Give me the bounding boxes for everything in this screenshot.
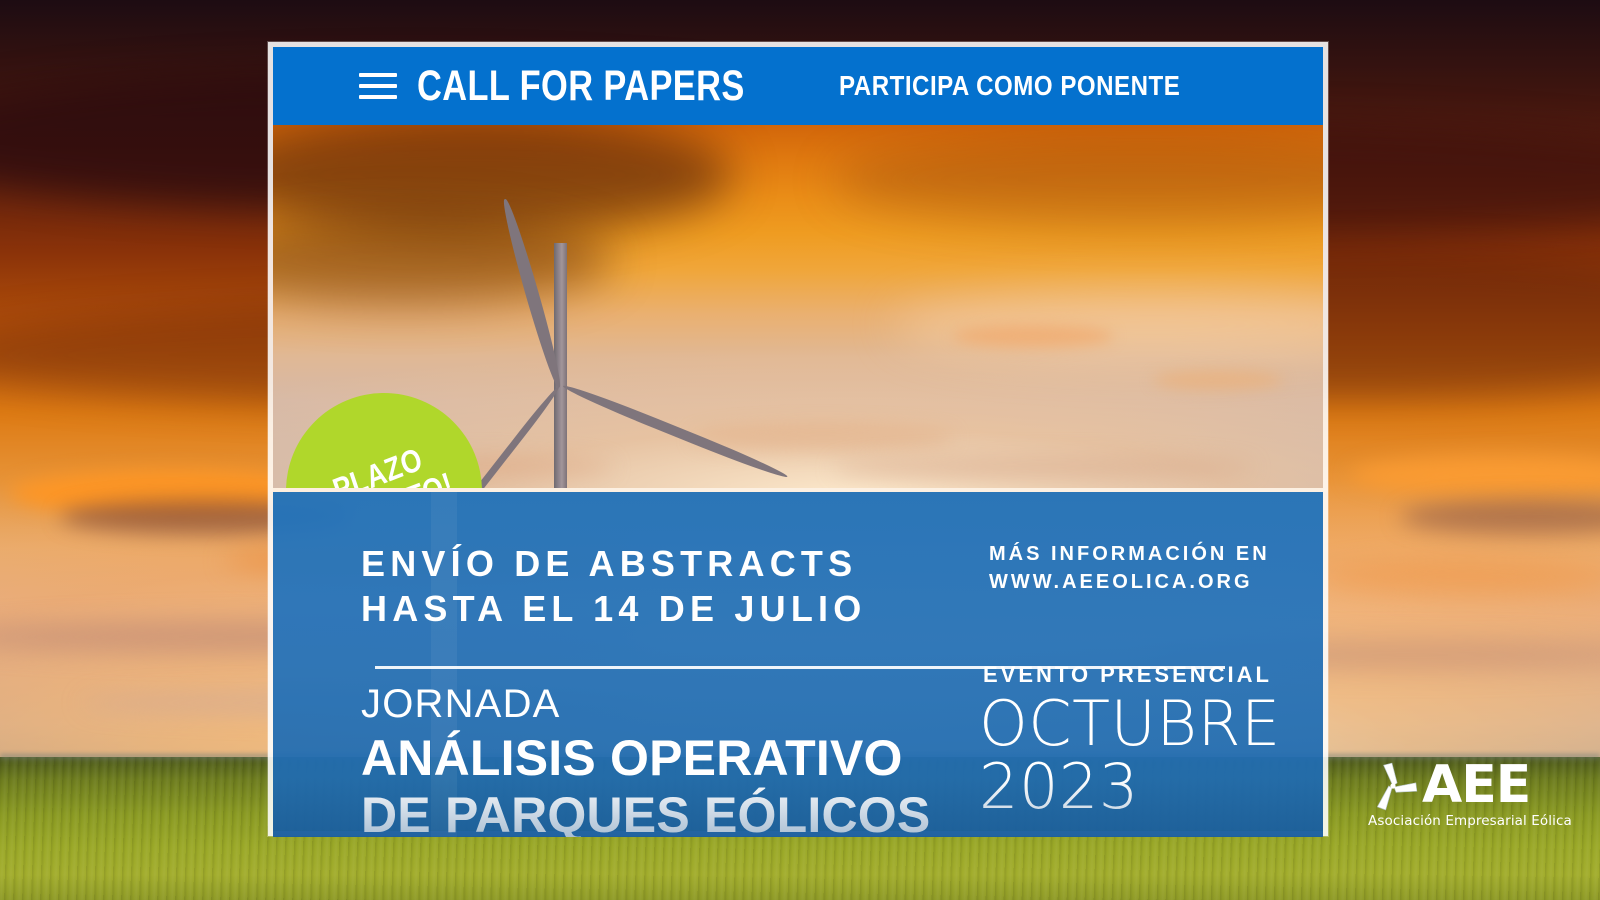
- more-information: MÁS INFORMACIÓN EN WWW.AEEOLICA.ORG: [989, 540, 1270, 597]
- aee-acronym: AEE: [1422, 761, 1530, 810]
- aee-logo: AEE Asociación Empresarial Eólica: [1368, 760, 1538, 836]
- abstract-deadline-line-2: HASTA EL 14 DE JULIO: [361, 586, 866, 631]
- hero-photo: PLAZO ABIERTO!: [273, 125, 1323, 488]
- wind-turbine-rotor-icon: [1368, 760, 1420, 812]
- info-panel: ENVÍO DE ABSTRACTS HASTA EL 14 DE JULIO …: [273, 492, 1323, 837]
- event-date: OCTUBRE 2023: [979, 692, 1281, 818]
- event-title-line-2: DE PARQUES EÓLICOS: [361, 787, 930, 837]
- event-kicker: JORNADA: [361, 682, 561, 726]
- turbine-blade-right: [561, 381, 789, 481]
- event-title-line-1: ANÁLISIS OPERATIVO: [361, 730, 930, 787]
- poster-stage: CALL FOR PAPERS PARTICIPA COMO PONENTE: [0, 0, 1600, 900]
- poster-header: CALL FOR PAPERS PARTICIPA COMO PONENTE: [273, 47, 1323, 125]
- poster-header-subtitle: PARTICIPA COMO PONENTE: [839, 70, 1180, 102]
- event-format: EVENTO PRESENCIAL: [983, 662, 1272, 688]
- poster-card: CALL FOR PAPERS PARTICIPA COMO PONENTE: [268, 42, 1328, 836]
- poster-header-title: CALL FOR PAPERS: [417, 62, 745, 111]
- website-url[interactable]: WWW.AEEOLICA.ORG: [989, 568, 1270, 596]
- event-title: ANÁLISIS OPERATIVO DE PARQUES EÓLICOS: [361, 730, 930, 837]
- abstract-deadline: ENVÍO DE ABSTRACTS HASTA EL 14 DE JULIO: [361, 541, 866, 632]
- abstract-deadline-line-1: ENVÍO DE ABSTRACTS: [361, 541, 866, 586]
- aee-tagline: Asociación Empresarial Eólica: [1368, 813, 1538, 829]
- event-month: OCTUBRE: [979, 692, 1281, 755]
- event-year: 2023: [979, 755, 1281, 818]
- hamburger-menu-icon[interactable]: [359, 73, 397, 99]
- more-information-label: MÁS INFORMACIÓN EN: [989, 540, 1270, 568]
